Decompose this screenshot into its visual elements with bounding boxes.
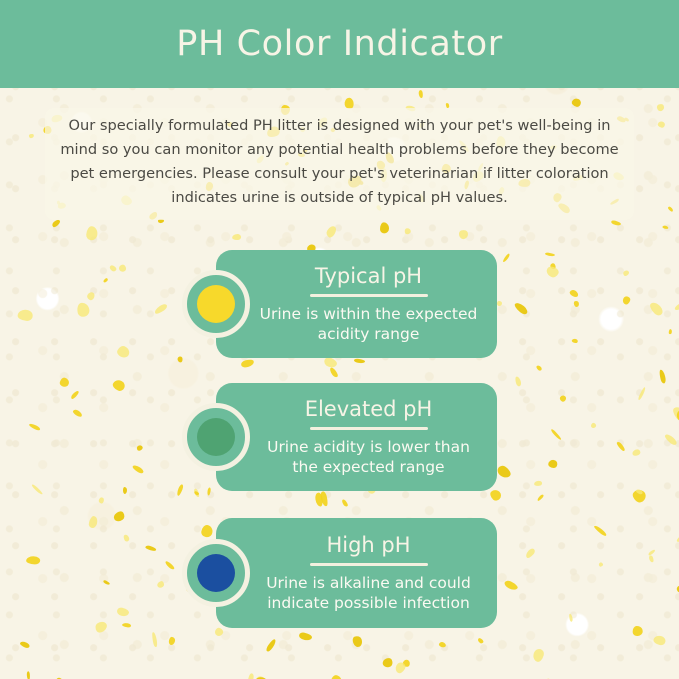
header-bar: PH Color Indicator [0,0,679,88]
card-description: Urine is within the expected acidity ran… [254,304,483,344]
title-divider [310,563,428,566]
card-title: High pH [326,532,410,562]
yellow-indicator-dot [197,285,235,323]
card-description: Urine acidity is lower than the expected… [254,437,483,477]
title-divider [310,294,428,297]
indicator-badge [182,270,250,338]
card-description: Urine is alkaline and could indicate pos… [254,573,483,613]
blue-indicator-dot [197,554,235,592]
ph-color-indicator-infographic: PH Color Indicator Our specially formula… [0,0,679,679]
indicator-badge [182,539,250,607]
card-title: Elevated pH [305,396,433,426]
page-title: PH Color Indicator [176,24,503,64]
green-indicator-dot [197,418,235,456]
title-divider [310,427,428,430]
ph-card-high[interactable]: High pH Urine is alkaline and could indi… [175,518,505,628]
card-panel: Typical pH Urine is within the expected … [216,250,497,358]
ph-card-elevated[interactable]: Elevated pH Urine acidity is lower than … [175,383,505,491]
indicator-badge [182,403,250,471]
card-panel: Elevated pH Urine acidity is lower than … [216,383,497,491]
card-panel: High pH Urine is alkaline and could indi… [216,518,497,628]
card-title: Typical pH [315,263,422,293]
ph-card-typical[interactable]: Typical pH Urine is within the expected … [175,250,505,358]
intro-paragraph: Our specially formulated PH litter is de… [57,114,622,210]
intro-panel: Our specially formulated PH litter is de… [45,108,634,220]
